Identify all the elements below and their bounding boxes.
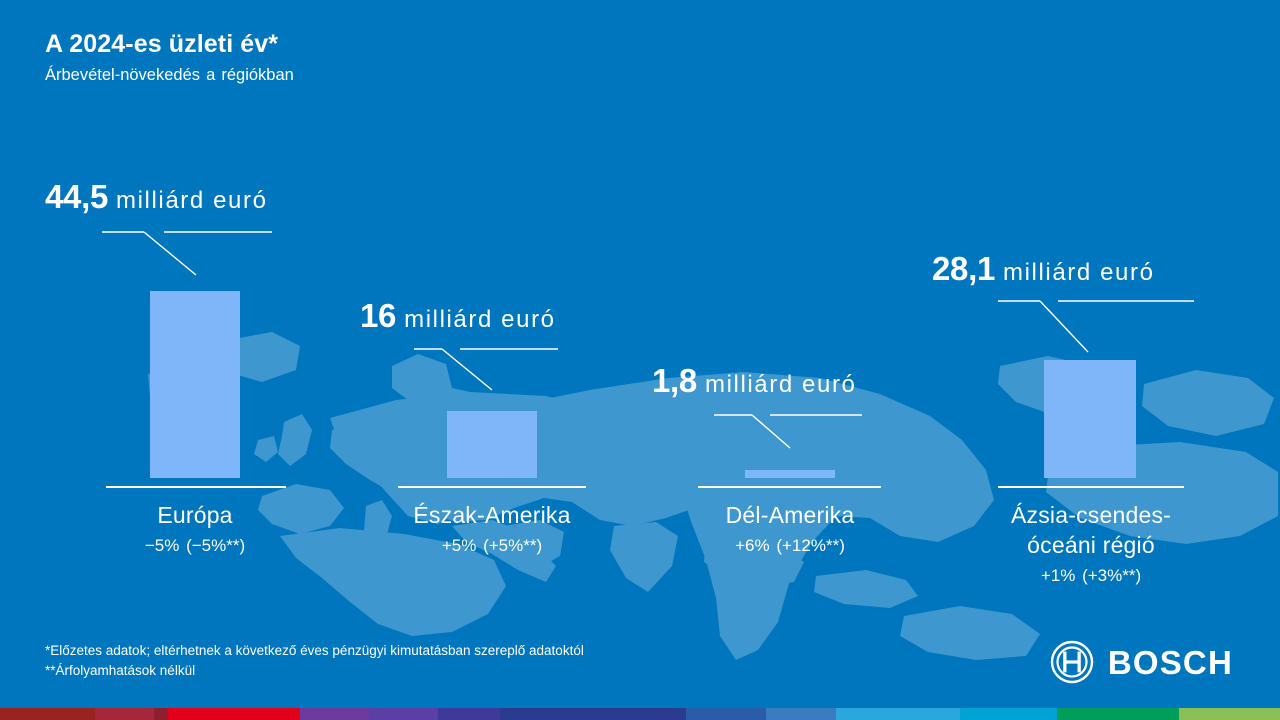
supergraphic-segment <box>1179 708 1280 720</box>
region-name-north-america: Észak-Amerika <box>372 500 612 530</box>
region-growth-north-america: +5% (+5%**) <box>372 533 612 559</box>
region-name-europe: Európa <box>75 500 315 530</box>
region-label-north-america: Észak-Amerika +5% (+5%**) <box>372 500 612 559</box>
bosch-logo: BOSCH <box>1050 640 1233 684</box>
supergraphic-segment <box>154 708 167 720</box>
supergraphic-segment <box>369 708 439 720</box>
value-unit-asia-pacific: milliárd euró <box>1003 259 1155 286</box>
page-subtitle: Árbevétel-növekedés a régiókban <box>45 63 745 87</box>
region-label-europe: Európa −5% (−5%**) <box>75 500 315 559</box>
region-growth-asia-pacific: +1% (+3%**) <box>971 563 1211 589</box>
supergraphic-segment <box>438 708 500 720</box>
footnote-line-2: **Árfolyamhatások nélkül <box>45 661 584 681</box>
baseline-south-america <box>698 486 881 488</box>
supergraphic-segment <box>1057 708 1179 720</box>
value-label-asia-pacific: 28,1 <box>932 250 995 287</box>
region-growth-europe: −5% (−5%**) <box>75 533 315 559</box>
region-label-south-america: Dél-Amerika +6% (+12%**) <box>670 500 910 559</box>
leader-line-north-america <box>412 342 587 402</box>
value-callout-north-america: 16milliárd euró <box>360 297 556 335</box>
leader-line-asia-pacific <box>996 294 1206 359</box>
header: A 2024-es üzleti év* Árbevétel-növekedés… <box>45 28 745 87</box>
supergraphic-segment <box>766 708 836 720</box>
page-title: A 2024-es üzleti év* <box>45 28 745 60</box>
baseline-north-america <box>398 486 586 488</box>
supergraphic-segment <box>300 708 369 720</box>
value-callout-south-america: 1,8milliárd euró <box>652 362 857 400</box>
leader-line-south-america <box>712 408 882 463</box>
region-name-south-america: Dél-Amerika <box>670 500 910 530</box>
supergraphic-segment <box>960 708 1057 720</box>
value-label-europe: 44,5 <box>45 178 108 215</box>
value-unit-north-america: milliárd euró <box>404 306 556 333</box>
region-name-asia-pacific-line1: Ázsia-csendes- <box>971 500 1211 530</box>
infographic-canvas: A 2024-es üzleti év* Árbevétel-növekedés… <box>0 0 1280 720</box>
value-label-north-america: 16 <box>360 297 396 334</box>
baseline-asia-pacific <box>998 486 1184 488</box>
bar-north-america <box>447 411 537 478</box>
baseline-europe <box>106 486 286 488</box>
value-label-south-america: 1,8 <box>652 362 697 399</box>
region-growth-south-america: +6% (+12%**) <box>670 533 910 559</box>
bosch-armature-icon <box>1050 640 1094 684</box>
value-unit-south-america: milliárd euró <box>705 371 857 398</box>
value-unit-europe: milliárd euró <box>116 187 268 214</box>
region-label-asia-pacific: Ázsia-csendes- óceáni régió +1% (+3%**) <box>971 500 1211 589</box>
supergraphic-segment <box>686 708 766 720</box>
bar-europe <box>150 291 240 478</box>
leader-line-europe <box>100 225 280 285</box>
supergraphic-segment <box>168 708 300 720</box>
value-callout-asia-pacific: 28,1milliárd euró <box>932 250 1155 288</box>
supergraphic-segment <box>0 708 95 720</box>
supergraphic-bar <box>0 708 1280 720</box>
footnote-line-1: *Előzetes adatok; eltérhetnek a következ… <box>45 641 584 661</box>
footnotes: *Előzetes adatok; eltérhetnek a következ… <box>45 641 584 681</box>
bosch-wordmark: BOSCH <box>1108 646 1233 679</box>
region-name-asia-pacific-line2: óceáni régió <box>971 530 1211 560</box>
supergraphic-segment <box>836 708 960 720</box>
value-callout-europe: 44,5milliárd euró <box>45 178 268 216</box>
supergraphic-segment <box>95 708 154 720</box>
supergraphic-segment <box>500 708 686 720</box>
bar-south-america <box>745 470 835 478</box>
bar-asia-pacific <box>1044 360 1136 478</box>
